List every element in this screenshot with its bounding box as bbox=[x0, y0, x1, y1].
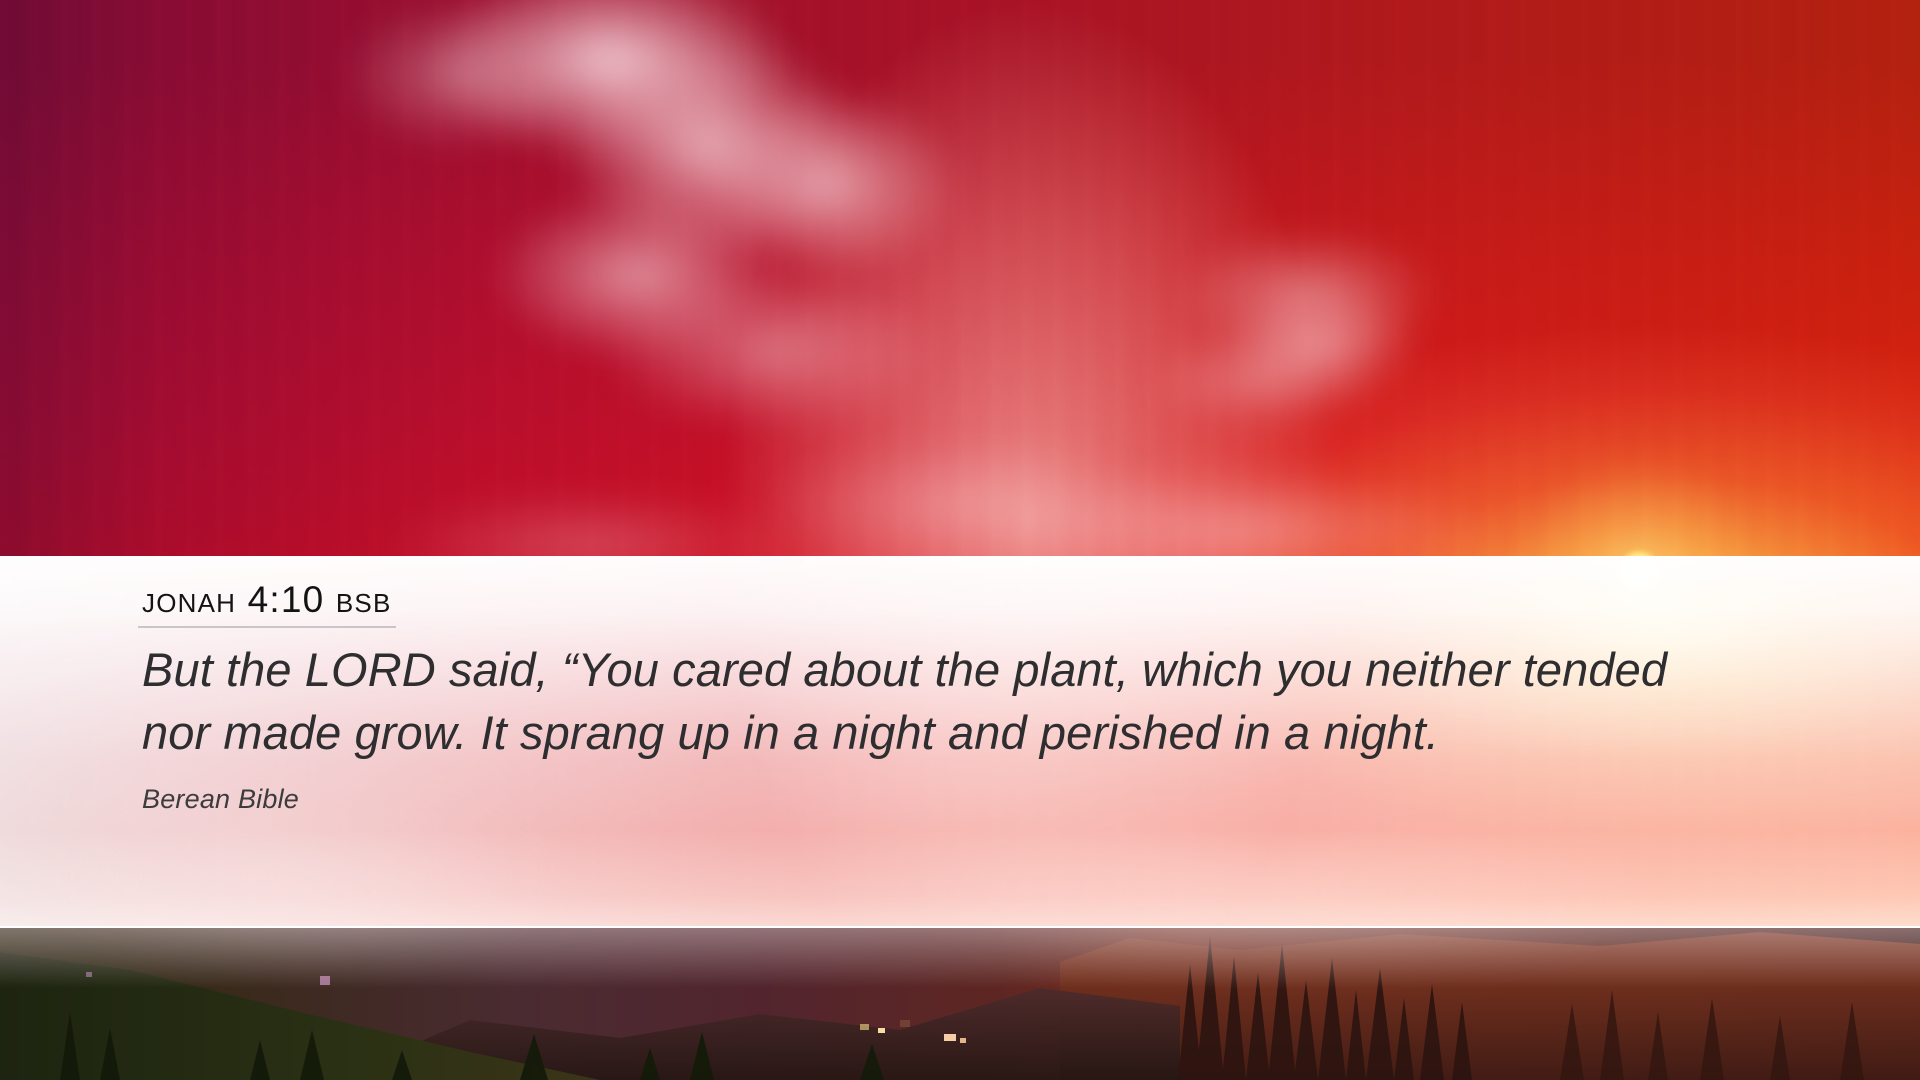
verse-reference[interactable]: Jonah 4:10 BSB bbox=[138, 579, 396, 628]
verse-text: But the LORD said, “You cared about the … bbox=[142, 638, 1682, 764]
verse-content: Jonah 4:10 BSB But the LORD said, “You c… bbox=[142, 579, 1702, 815]
verse-attribution: Berean Bible bbox=[142, 784, 1702, 815]
landscape-silhouette bbox=[0, 928, 1920, 1080]
verse-wallpaper: Jonah 4:10 BSB But the LORD said, “You c… bbox=[0, 0, 1920, 1080]
forest-hills-landscape bbox=[0, 928, 1920, 1080]
verse-overlay-band: Jonah 4:10 BSB But the LORD said, “You c… bbox=[0, 556, 1920, 928]
